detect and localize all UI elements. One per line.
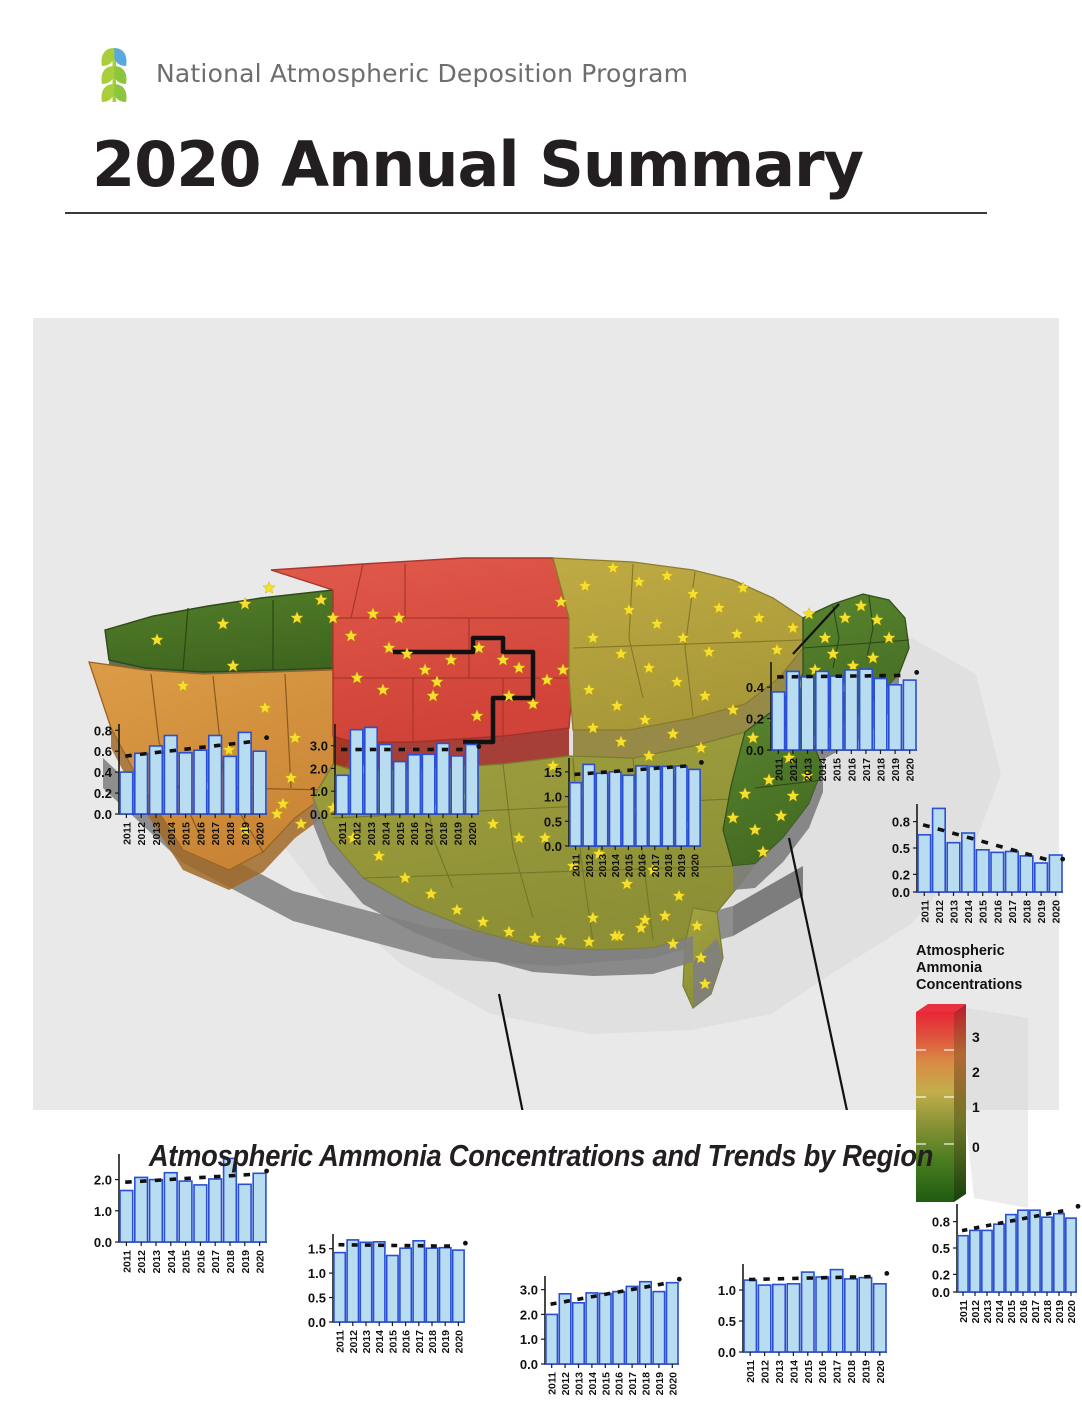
chart-upper-midwest: 0.00.51.01.52011201220132014201520162017… xyxy=(525,750,709,898)
chart-trend-segment xyxy=(199,747,206,748)
chart-x-tick-label: 2012 xyxy=(584,854,596,878)
organization-name: National Atmospheric Deposition Program xyxy=(156,59,688,88)
chart-bar xyxy=(164,736,177,815)
chart-bar xyxy=(787,671,800,750)
chart-x-tick-label: 2018 xyxy=(663,854,675,878)
legend-tick-1: 1 xyxy=(972,1099,980,1115)
chart-bar xyxy=(600,1293,612,1364)
chart-x-tick-label: 2019 xyxy=(240,1250,252,1274)
chart-bar xyxy=(413,1241,424,1322)
brand-row: National Atmospheric Deposition Program xyxy=(88,42,688,104)
chart-y-tick-label: 0.0 xyxy=(94,807,112,822)
chart-bar xyxy=(570,783,581,846)
chart-bar xyxy=(583,764,594,846)
chart-bar xyxy=(135,1177,148,1242)
chart-trend-segment xyxy=(667,767,673,768)
chart-mid-atlantic: 0.00.20.50.82011201220132014201520162017… xyxy=(873,796,1071,944)
chart-y-tick-label: 2.0 xyxy=(520,1307,538,1322)
chart-trend-segment xyxy=(214,745,221,746)
chart-trend-segment xyxy=(1046,1213,1051,1214)
chart-x-tick-label: 2011 xyxy=(773,758,785,781)
chart-x-tick-label: 2016 xyxy=(637,854,649,878)
chart-x-tick-label: 2014 xyxy=(380,822,392,846)
chart-bar xyxy=(1018,1210,1028,1292)
chart-bar xyxy=(676,766,687,846)
chart-x-tick-label: 2012 xyxy=(560,1372,572,1396)
chart-significance-marker xyxy=(476,744,481,749)
chart-x-tick-label: 2018 xyxy=(225,822,237,846)
chart-y-tick-label: 0.2 xyxy=(94,786,112,801)
chart-y-tick-label: 1.0 xyxy=(308,1266,326,1281)
chart-x-tick-label: 2019 xyxy=(1036,900,1048,924)
chart-trend-segment xyxy=(125,755,132,756)
chart-bar xyxy=(150,746,163,814)
chart-significance-marker xyxy=(914,670,919,675)
chart-trend-segment xyxy=(967,837,974,839)
chart-significance-marker xyxy=(463,1241,468,1246)
chart-trend-segment xyxy=(1011,849,1018,851)
chart-bar xyxy=(991,852,1004,892)
chart-x-tick-label: 2012 xyxy=(788,758,800,782)
chart-significance-marker xyxy=(699,760,704,765)
chart-bar xyxy=(667,1283,679,1364)
chart-bar xyxy=(365,727,377,814)
chart-bar xyxy=(994,1224,1004,1292)
chart-bar xyxy=(209,1179,222,1242)
chart-x-tick-label: 2020 xyxy=(1066,1300,1078,1324)
chart-bar xyxy=(120,772,133,814)
chart-y-tick-label: 2.0 xyxy=(94,1173,112,1188)
chart-x-tick-label: 2019 xyxy=(240,822,252,846)
legend-tick-2: 2 xyxy=(972,1064,980,1080)
chart-trend-segment xyxy=(680,766,686,767)
chart-trend-segment xyxy=(618,1291,624,1292)
chart-bar xyxy=(379,745,391,815)
chart-y-tick-label: 0.5 xyxy=(892,841,910,856)
chart-bar xyxy=(253,1173,266,1242)
chart-x-tick-label: 2015 xyxy=(623,854,635,878)
chart-bar xyxy=(179,1181,192,1242)
chart-bar xyxy=(546,1314,558,1364)
chart-x-tick-label: 2019 xyxy=(860,1360,872,1384)
chart-bar xyxy=(744,1280,756,1352)
chart-x-tick-label: 2013 xyxy=(574,1372,586,1396)
chart-bar xyxy=(586,1293,598,1364)
chart-x-tick-label: 2016 xyxy=(846,758,858,782)
chart-x-tick-label: 2015 xyxy=(803,1360,815,1384)
chart-x-tick-label: 2016 xyxy=(401,1330,413,1354)
chart-y-tick-label: 1.0 xyxy=(310,784,328,799)
chart-x-tick-label: 2011 xyxy=(121,822,133,845)
chart-y-tick-label: 0.2 xyxy=(932,1267,950,1282)
chart-y-tick-label: 0.0 xyxy=(718,1345,736,1360)
chart-northeast: 0.00.20.42011201220132014201520162017201… xyxy=(727,654,925,802)
chart-x-tick-label: 2012 xyxy=(348,1330,360,1354)
wheat-leaf-logo-icon xyxy=(88,42,142,104)
chart-y-tick-label: 0.0 xyxy=(308,1315,326,1330)
chart-central-plains: 0.01.02.03.02011201220132014201520162017… xyxy=(501,1268,687,1416)
chart-x-tick-label: 2015 xyxy=(181,822,193,846)
chart-x-tick-label: 2020 xyxy=(255,822,267,846)
chart-y-tick-label: 1.5 xyxy=(308,1242,326,1257)
chart-x-tick-label: 2016 xyxy=(1018,1300,1030,1324)
chart-bar xyxy=(334,1253,345,1322)
chart-bar xyxy=(982,1230,992,1292)
chart-bar xyxy=(758,1285,770,1352)
chart-x-tick-label: 2012 xyxy=(760,1360,772,1384)
chart-bar xyxy=(689,769,700,846)
chart-x-tick-label: 2011 xyxy=(337,822,349,845)
chart-bar xyxy=(889,685,902,750)
chart-x-tick-label: 2020 xyxy=(667,1372,679,1396)
chart-bar xyxy=(626,1286,638,1364)
chart-bar xyxy=(1042,1217,1052,1292)
chart-trend-segment xyxy=(982,841,989,843)
chart-bar xyxy=(347,1240,358,1322)
chart-x-tick-label: 2014 xyxy=(817,758,829,782)
chart-bar xyxy=(903,680,916,750)
chart-bar xyxy=(336,775,348,814)
chart-bar xyxy=(400,1248,411,1322)
chart-x-tick-label: 2013 xyxy=(151,822,163,846)
chart-y-tick-label: 1.0 xyxy=(520,1332,538,1347)
chart-trend-segment xyxy=(184,749,191,750)
chart-trend-segment xyxy=(1058,1211,1063,1212)
chart-bar xyxy=(649,766,660,846)
chart-bar xyxy=(640,1282,652,1364)
chart-x-tick-label: 2020 xyxy=(467,822,479,846)
chart-bar xyxy=(1006,1215,1016,1292)
chart-x-tick-label: 2018 xyxy=(438,822,450,846)
figure-panel: Atmospheric Ammonia Concentrations 3 2 1… xyxy=(33,318,1059,1110)
chart-bar xyxy=(976,850,989,892)
chart-pacific-northwest: 0.00.20.40.60.82011201220132014201520162… xyxy=(75,716,275,866)
chart-bar xyxy=(962,833,975,892)
chart-x-tick-label: 2011 xyxy=(121,1250,133,1273)
chart-x-tick-label: 2020 xyxy=(1051,900,1063,924)
chart-bar xyxy=(787,1284,799,1352)
chart-x-tick-label: 2013 xyxy=(774,1360,786,1384)
chart-bar xyxy=(947,843,960,892)
chart-significance-marker xyxy=(884,1271,889,1276)
map-site-marker xyxy=(263,582,275,594)
chart-x-tick-label: 2011 xyxy=(547,1372,559,1395)
chart-bar xyxy=(559,1294,571,1364)
chart-bar xyxy=(135,753,148,814)
chart-trend-segment xyxy=(654,768,660,769)
chart-y-tick-label: 1.0 xyxy=(718,1283,736,1298)
chart-x-tick-label: 2020 xyxy=(689,854,701,878)
chart-x-tick-label: 2017 xyxy=(650,854,662,878)
chart-x-tick-label: 2018 xyxy=(876,758,888,782)
chart-trend-segment xyxy=(1022,1218,1027,1219)
chart-x-tick-label: 2019 xyxy=(654,1372,666,1396)
chart-significance-marker xyxy=(1076,1204,1081,1209)
chart-x-tick-label: 2015 xyxy=(1006,1300,1018,1324)
chart-x-tick-label: 2017 xyxy=(414,1330,426,1354)
chart-trend-segment xyxy=(986,1225,991,1226)
chart-trend-segment xyxy=(170,750,177,751)
chart-x-tick-label: 2013 xyxy=(803,758,815,782)
chart-x-tick-label: 2018 xyxy=(225,1250,237,1274)
chart-x-tick-label: 2016 xyxy=(409,822,421,846)
chart-trend-segment xyxy=(974,1227,979,1228)
chart-x-tick-label: 2015 xyxy=(832,758,844,782)
chart-x-tick-label: 2016 xyxy=(992,900,1004,924)
chart-x-tick-label: 2013 xyxy=(982,1300,994,1324)
chart-x-tick-label: 2019 xyxy=(890,758,902,782)
chart-x-tick-label: 2014 xyxy=(374,1330,386,1354)
chart-bar xyxy=(874,1284,886,1352)
chart-x-tick-label: 2013 xyxy=(361,1330,373,1354)
chart-y-tick-label: 0.2 xyxy=(746,712,764,727)
chart-y-tick-label: 0.2 xyxy=(892,867,910,882)
chart-trend-segment xyxy=(591,1296,597,1297)
chart-bar xyxy=(613,1292,625,1364)
chart-x-tick-label: 2012 xyxy=(970,1300,982,1324)
chart-y-tick-label: 3.0 xyxy=(310,739,328,754)
chart-y-tick-label: 0.5 xyxy=(308,1291,326,1306)
chart-bar xyxy=(830,1270,842,1352)
chart-bar xyxy=(623,775,634,846)
chart-bar xyxy=(773,1285,785,1353)
chart-bar xyxy=(437,743,449,814)
legend-tick-3: 3 xyxy=(972,1029,980,1045)
chart-y-tick-label: 0.0 xyxy=(94,1235,112,1250)
chart-x-tick-label: 2020 xyxy=(905,758,917,782)
chart-bar xyxy=(573,1303,585,1364)
chart-bar xyxy=(253,751,266,814)
chart-x-tick-label: 2018 xyxy=(427,1330,439,1354)
chart-x-tick-label: 2017 xyxy=(1030,1300,1042,1324)
chart-bar xyxy=(845,670,858,750)
chart-y-tick-label: 0.5 xyxy=(932,1241,950,1256)
chart-trend-segment xyxy=(604,1293,610,1294)
chart-bar xyxy=(918,835,931,892)
chart-trend-segment xyxy=(644,1286,650,1287)
chart-x-tick-label: 2011 xyxy=(335,1330,347,1353)
chart-x-tick-label: 2015 xyxy=(395,822,407,846)
chart-bar xyxy=(830,676,843,750)
chart-trend-segment xyxy=(658,1284,664,1285)
title-divider xyxy=(65,212,987,214)
chart-x-tick-label: 2017 xyxy=(832,1360,844,1384)
chart-x-tick-label: 2017 xyxy=(210,1250,222,1274)
chart-bar xyxy=(422,754,434,814)
chart-y-tick-label: 0.4 xyxy=(94,765,113,780)
chart-trend-segment xyxy=(244,742,251,743)
chart-trend-segment xyxy=(952,833,959,835)
chart-bar xyxy=(374,1242,385,1322)
chart-trend-segment xyxy=(1034,1216,1039,1217)
chart-trend-segment xyxy=(1040,858,1047,860)
chart-y-tick-label: 0.8 xyxy=(94,723,112,738)
chart-x-tick-label: 2017 xyxy=(210,822,222,846)
chart-x-tick-label: 2014 xyxy=(587,1372,599,1396)
chart-bar xyxy=(596,773,607,846)
chart-bar xyxy=(164,1173,177,1242)
chart-bar xyxy=(1054,1214,1064,1292)
chart-x-tick-label: 2020 xyxy=(875,1360,887,1384)
chart-bar xyxy=(874,679,887,751)
chart-y-tick-label: 0.0 xyxy=(520,1357,538,1372)
chart-bar xyxy=(194,1185,207,1242)
chart-bar xyxy=(772,692,785,750)
chart-trend-segment xyxy=(551,1303,557,1304)
chart-x-tick-label: 2019 xyxy=(440,1330,452,1354)
chart-bar xyxy=(387,1256,398,1323)
chart-x-tick-label: 2015 xyxy=(387,1330,399,1354)
chart-x-tick-label: 2014 xyxy=(166,822,178,846)
chart-bar xyxy=(816,671,829,750)
chart-bar xyxy=(1020,856,1033,892)
chart-x-tick-label: 2020 xyxy=(453,1330,465,1354)
chart-x-tick-label: 2011 xyxy=(958,1300,970,1323)
chart-significance-marker xyxy=(677,1277,682,1282)
chart-x-tick-label: 2017 xyxy=(627,1372,639,1396)
chart-bar xyxy=(466,745,478,815)
chart-y-tick-label: 0.0 xyxy=(544,839,562,854)
page-header: National Atmospheric Deposition Program … xyxy=(0,0,1082,230)
chart-bar xyxy=(970,1230,980,1292)
chart-x-tick-label: 2014 xyxy=(788,1360,800,1384)
chart-bar xyxy=(451,756,463,814)
chart-rocky-mountain: 0.00.51.01.52011201220132014201520162017… xyxy=(289,1226,473,1374)
chart-x-tick-label: 2018 xyxy=(641,1372,653,1396)
chart-x-tick-label: 2012 xyxy=(934,900,946,924)
chart-bar xyxy=(179,753,192,814)
chart-bar xyxy=(150,1180,163,1242)
chart-trend-segment xyxy=(155,752,162,753)
chart-bar xyxy=(238,732,251,814)
chart-x-tick-label: 2017 xyxy=(861,758,873,782)
chart-x-tick-label: 2012 xyxy=(352,822,364,846)
chart-bar xyxy=(426,1248,437,1322)
chart-bar xyxy=(859,1278,871,1352)
chart-y-tick-label: 0.0 xyxy=(746,743,764,758)
chart-x-tick-label: 2011 xyxy=(919,900,931,923)
chart-bar xyxy=(636,766,647,846)
chart-y-tick-label: 0.8 xyxy=(892,815,910,830)
chart-x-tick-label: 2015 xyxy=(978,900,990,924)
chart-significance-marker xyxy=(264,735,269,740)
chart-bar xyxy=(958,1236,968,1292)
chart-northern-rockies-plains: 0.01.02.03.02011201220132014201520162017… xyxy=(291,716,487,866)
chart-bar xyxy=(1049,855,1062,892)
chart-trend-segment xyxy=(229,744,236,745)
legend-color-bar xyxy=(908,998,1058,1213)
chart-bar xyxy=(1066,1218,1076,1292)
chart-y-tick-label: 0.5 xyxy=(544,814,562,829)
chart-x-tick-label: 2016 xyxy=(195,822,207,846)
chart-y-tick-label: 0.0 xyxy=(892,885,910,900)
chart-x-tick-label: 2014 xyxy=(610,854,622,878)
chart-y-tick-label: 0.8 xyxy=(932,1215,950,1230)
chart-y-tick-label: 1.0 xyxy=(94,1204,112,1219)
chart-x-tick-label: 2020 xyxy=(255,1250,267,1274)
chart-x-tick-label: 2015 xyxy=(600,1372,612,1396)
chart-x-tick-label: 2014 xyxy=(994,1300,1006,1324)
chart-y-tick-label: 0.5 xyxy=(718,1314,736,1329)
chart-x-tick-label: 2018 xyxy=(1022,900,1034,924)
chart-y-tick-label: 0.0 xyxy=(932,1285,950,1300)
chart-bar xyxy=(194,750,207,814)
chart-bar xyxy=(860,669,873,750)
chart-bar xyxy=(360,1242,371,1322)
chart-trend-segment xyxy=(140,754,147,755)
chart-trend-segment xyxy=(923,825,930,827)
figure-caption: Atmospheric Ammonia Concentrations and T… xyxy=(65,1138,1017,1174)
chart-bar xyxy=(845,1279,857,1352)
chart-x-tick-label: 2016 xyxy=(614,1372,626,1396)
chart-trend-segment xyxy=(1025,854,1032,856)
chart-x-tick-label: 2014 xyxy=(963,900,975,924)
chart-x-tick-label: 2011 xyxy=(571,854,583,877)
chart-y-tick-label: 1.0 xyxy=(544,790,562,805)
chart-x-tick-label: 2017 xyxy=(424,822,436,846)
chart-x-tick-label: 2015 xyxy=(181,1250,193,1274)
chart-bar xyxy=(662,766,673,846)
chart-x-tick-label: 2012 xyxy=(136,1250,148,1274)
chart-x-tick-label: 2011 xyxy=(745,1360,757,1383)
chart-x-tick-label: 2014 xyxy=(166,1250,178,1274)
chart-x-tick-label: 2019 xyxy=(452,822,464,846)
chart-x-tick-label: 2016 xyxy=(817,1360,829,1384)
chart-trend-segment xyxy=(998,1223,1003,1224)
chart-y-tick-label: 0.0 xyxy=(310,807,328,822)
chart-trend-segment xyxy=(1010,1220,1015,1221)
chart-x-tick-label: 2018 xyxy=(846,1360,858,1384)
chart-bar xyxy=(224,756,237,814)
chart-trend-segment xyxy=(962,1230,967,1231)
chart-y-tick-label: 1.5 xyxy=(544,765,562,780)
legend-title: Atmospheric Ammonia Concentrations xyxy=(916,943,1056,994)
chart-trend-segment xyxy=(996,845,1003,847)
chart-y-tick-label: 3.0 xyxy=(520,1283,538,1298)
chart-x-tick-label: 2017 xyxy=(1007,900,1019,924)
chart-southeast: 0.00.20.50.82011201220132014201520162017… xyxy=(913,1196,1082,1344)
chart-x-tick-label: 2013 xyxy=(366,822,378,846)
chart-trend-segment xyxy=(631,1289,637,1290)
chart-bar xyxy=(816,1277,828,1352)
chart-bar xyxy=(453,1250,464,1322)
chart-x-tick-label: 2013 xyxy=(151,1250,163,1274)
chart-trend-segment xyxy=(577,1298,583,1299)
chart-bar xyxy=(1030,1210,1040,1292)
chart-x-tick-label: 2016 xyxy=(195,1250,207,1274)
chart-bar xyxy=(120,1191,133,1243)
chart-bar xyxy=(933,808,946,892)
chart-y-tick-label: 0.6 xyxy=(94,744,112,759)
chart-x-tick-label: 2013 xyxy=(949,900,961,924)
chart-bar xyxy=(653,1292,665,1364)
chart-x-tick-label: 2012 xyxy=(136,822,148,846)
chart-significance-marker xyxy=(1060,857,1065,862)
chart-bar xyxy=(1035,863,1048,892)
chart-trend-segment xyxy=(564,1301,570,1302)
chart-x-tick-label: 2018 xyxy=(1042,1300,1054,1324)
chart-x-tick-label: 2019 xyxy=(1054,1300,1066,1324)
chart-x-tick-label: 2013 xyxy=(597,854,609,878)
chart-bar xyxy=(408,755,420,814)
page-title: 2020 Annual Summary xyxy=(92,128,863,201)
chart-x-tick-label: 2019 xyxy=(676,854,688,878)
chart-bar xyxy=(1006,852,1019,893)
chart-bar xyxy=(610,772,621,846)
chart-bar xyxy=(440,1248,451,1322)
chart-bar xyxy=(238,1184,251,1242)
chart-trend-segment xyxy=(938,829,945,831)
